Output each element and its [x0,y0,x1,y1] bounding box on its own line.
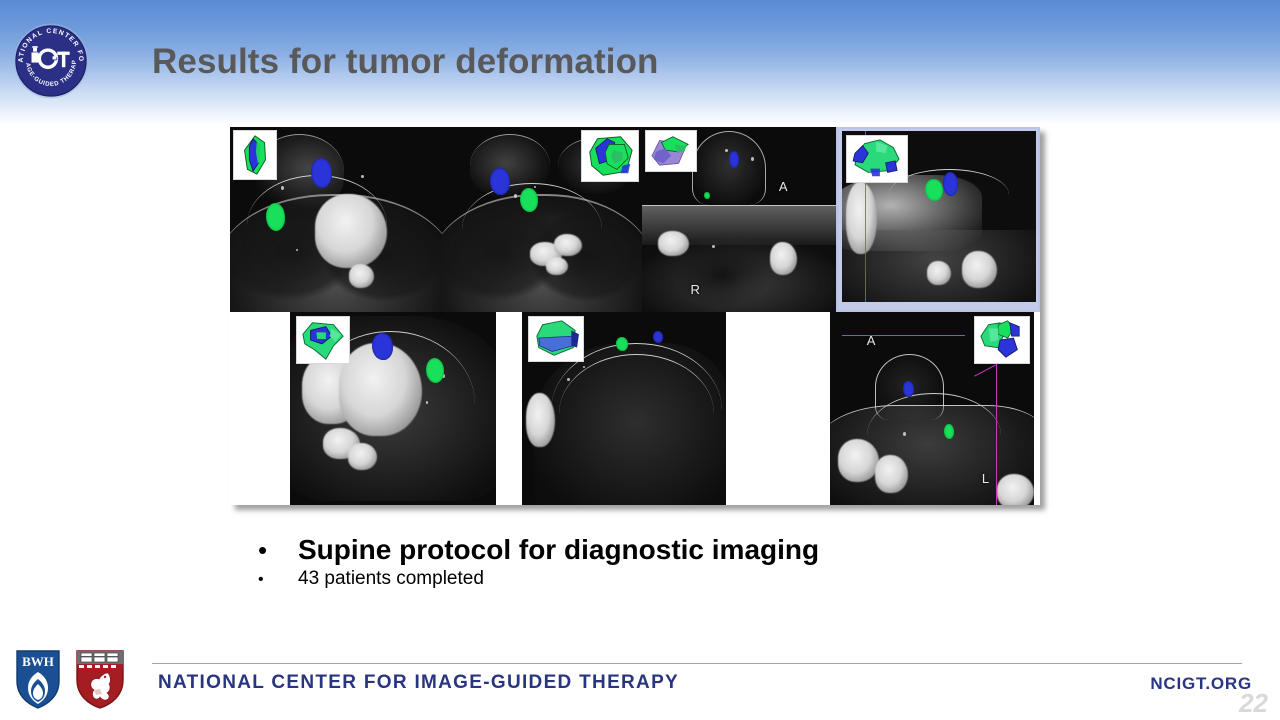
figure-gap-right [1034,312,1040,505]
3d-tumor-render-3 [645,130,697,172]
figure-gap-left [230,312,290,505]
3d-tumor-render-5 [296,316,350,364]
mri-panel-7[interactable]: A L [830,312,1034,505]
orientation-label-anterior: A [779,179,788,194]
orientation-label-anterior-2: A [867,333,876,348]
harvard-medical-school-shield [74,648,126,710]
mri-panel-5[interactable] [290,312,496,505]
3d-tumor-render-2 [581,130,639,182]
mri-panel-1[interactable] [230,127,442,312]
slide-canvas: NATIONAL CENTER FOR IMAGE-GUIDED THERAPY… [0,0,1280,720]
bullet-item-secondary: • 43 patients completed [258,568,1158,590]
bullet-text-secondary: 43 patients completed [298,568,484,590]
mri-figure-block: A R [230,127,1040,505]
bullet-text-primary: Supine protocol for diagnostic imaging [298,534,819,566]
mri-panel-4[interactable] [836,127,1040,312]
3d-tumor-render-7 [974,316,1030,364]
orientation-label-right: R [691,282,700,297]
3d-tumor-render-4 [846,135,908,183]
figure-gap-mid-2 [726,312,830,505]
bwh-shield-label: BWH [22,654,54,669]
3d-tumor-render-1 [233,130,277,180]
mri-panel-2[interactable] [442,127,642,312]
footer-url[interactable]: NCIGT.ORG [1150,674,1252,694]
figure-gap-mid-1 [496,312,522,505]
bullet-list: • Supine protocol for diagnostic imaging… [258,534,1158,590]
slide-number: 22 [1239,688,1268,719]
mri-panel-6[interactable] [522,312,726,505]
footer-divider [152,663,1242,664]
mri-panel-3[interactable]: A R [642,127,836,312]
3d-tumor-render-6 [528,316,584,362]
ncigt-circular-logo: NATIONAL CENTER FOR IMAGE-GUIDED THERAPY [12,22,90,100]
brigham-and-womens-hospital-shield: BWH [14,648,62,710]
bullet-marker-icon: • [258,535,298,566]
mri-row-bottom: A L [230,312,1040,505]
bullet-marker-icon-2: • [258,571,298,589]
orientation-label-left: L [982,471,989,486]
page-title: Results for tumor deformation [152,42,659,82]
mri-row-top: A R [230,127,1040,312]
footer-org-name: NATIONAL CENTER FOR IMAGE-GUIDED THERAPY [158,672,679,694]
bullet-item-primary: • Supine protocol for diagnostic imaging [258,534,1158,566]
